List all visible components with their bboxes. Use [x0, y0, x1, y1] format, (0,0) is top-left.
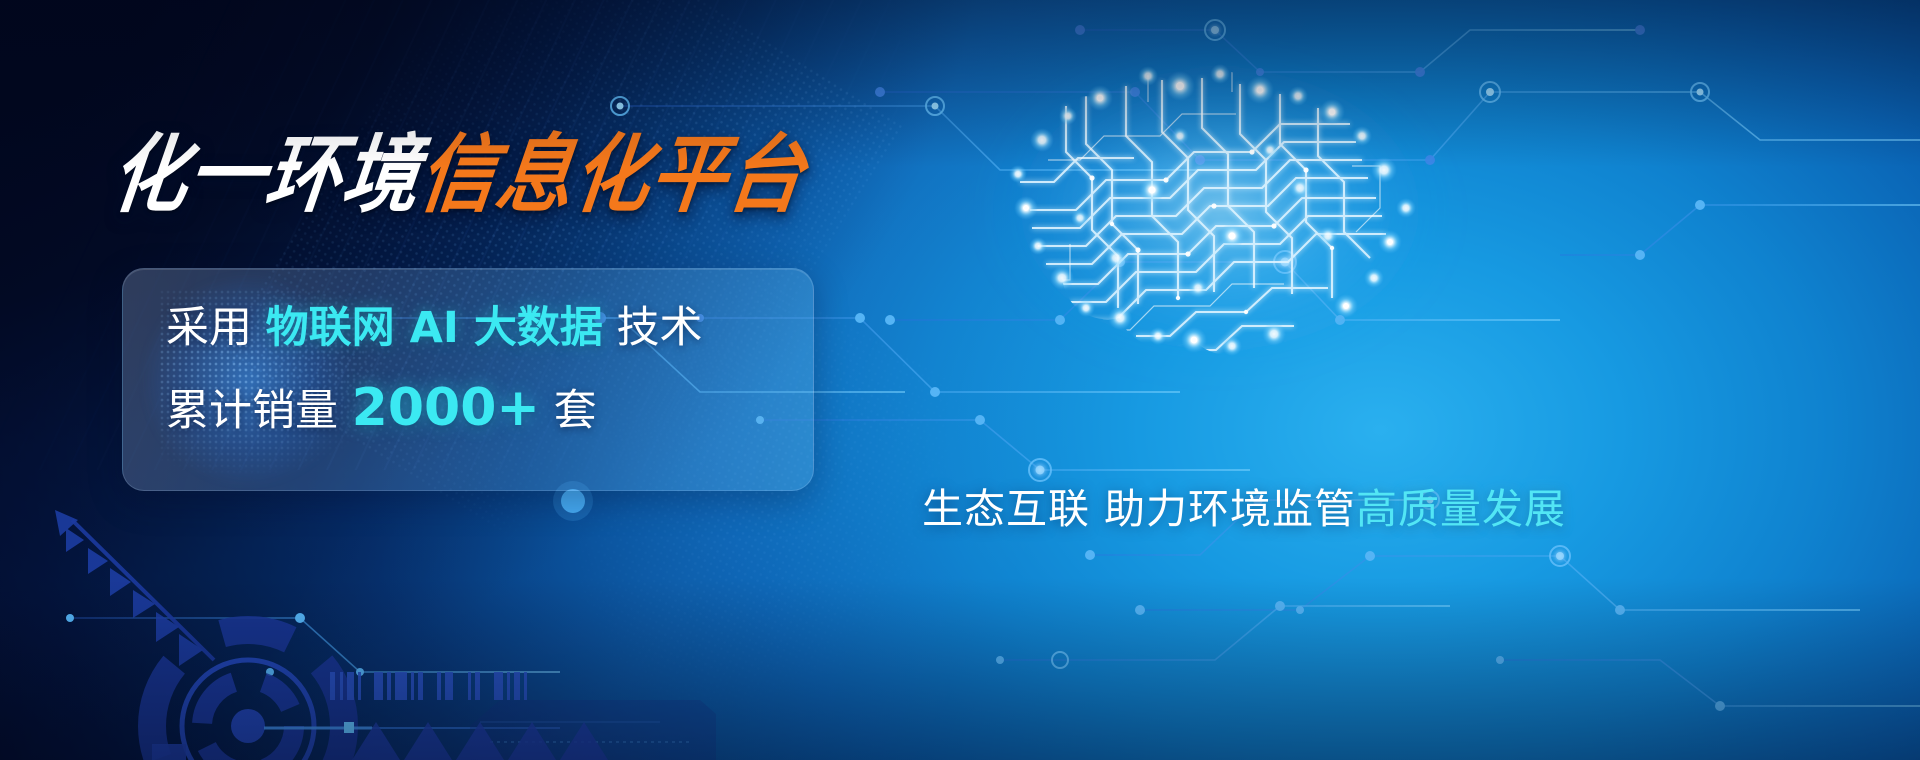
hero-banner: 化一环境信息化平台 采用 物联网 AI 大数据 技术 累计销量 2000+ 套 …	[0, 0, 1920, 760]
panel-sales-number: 2000+	[352, 378, 540, 438]
panel-line1-prefix: 采用	[166, 303, 266, 353]
panel-line-technology: 采用 物联网 AI 大数据 技术	[166, 307, 813, 350]
panel-line2-prefix: 累计销量	[166, 386, 352, 436]
panel-line-sales: 累计销量 2000+ 套	[166, 382, 813, 434]
panel-line2-suffix: 套	[540, 386, 597, 436]
panel-line1-suffix: 技术	[603, 303, 703, 353]
panel-line1-highlight: 物联网 AI 大数据	[266, 303, 603, 353]
